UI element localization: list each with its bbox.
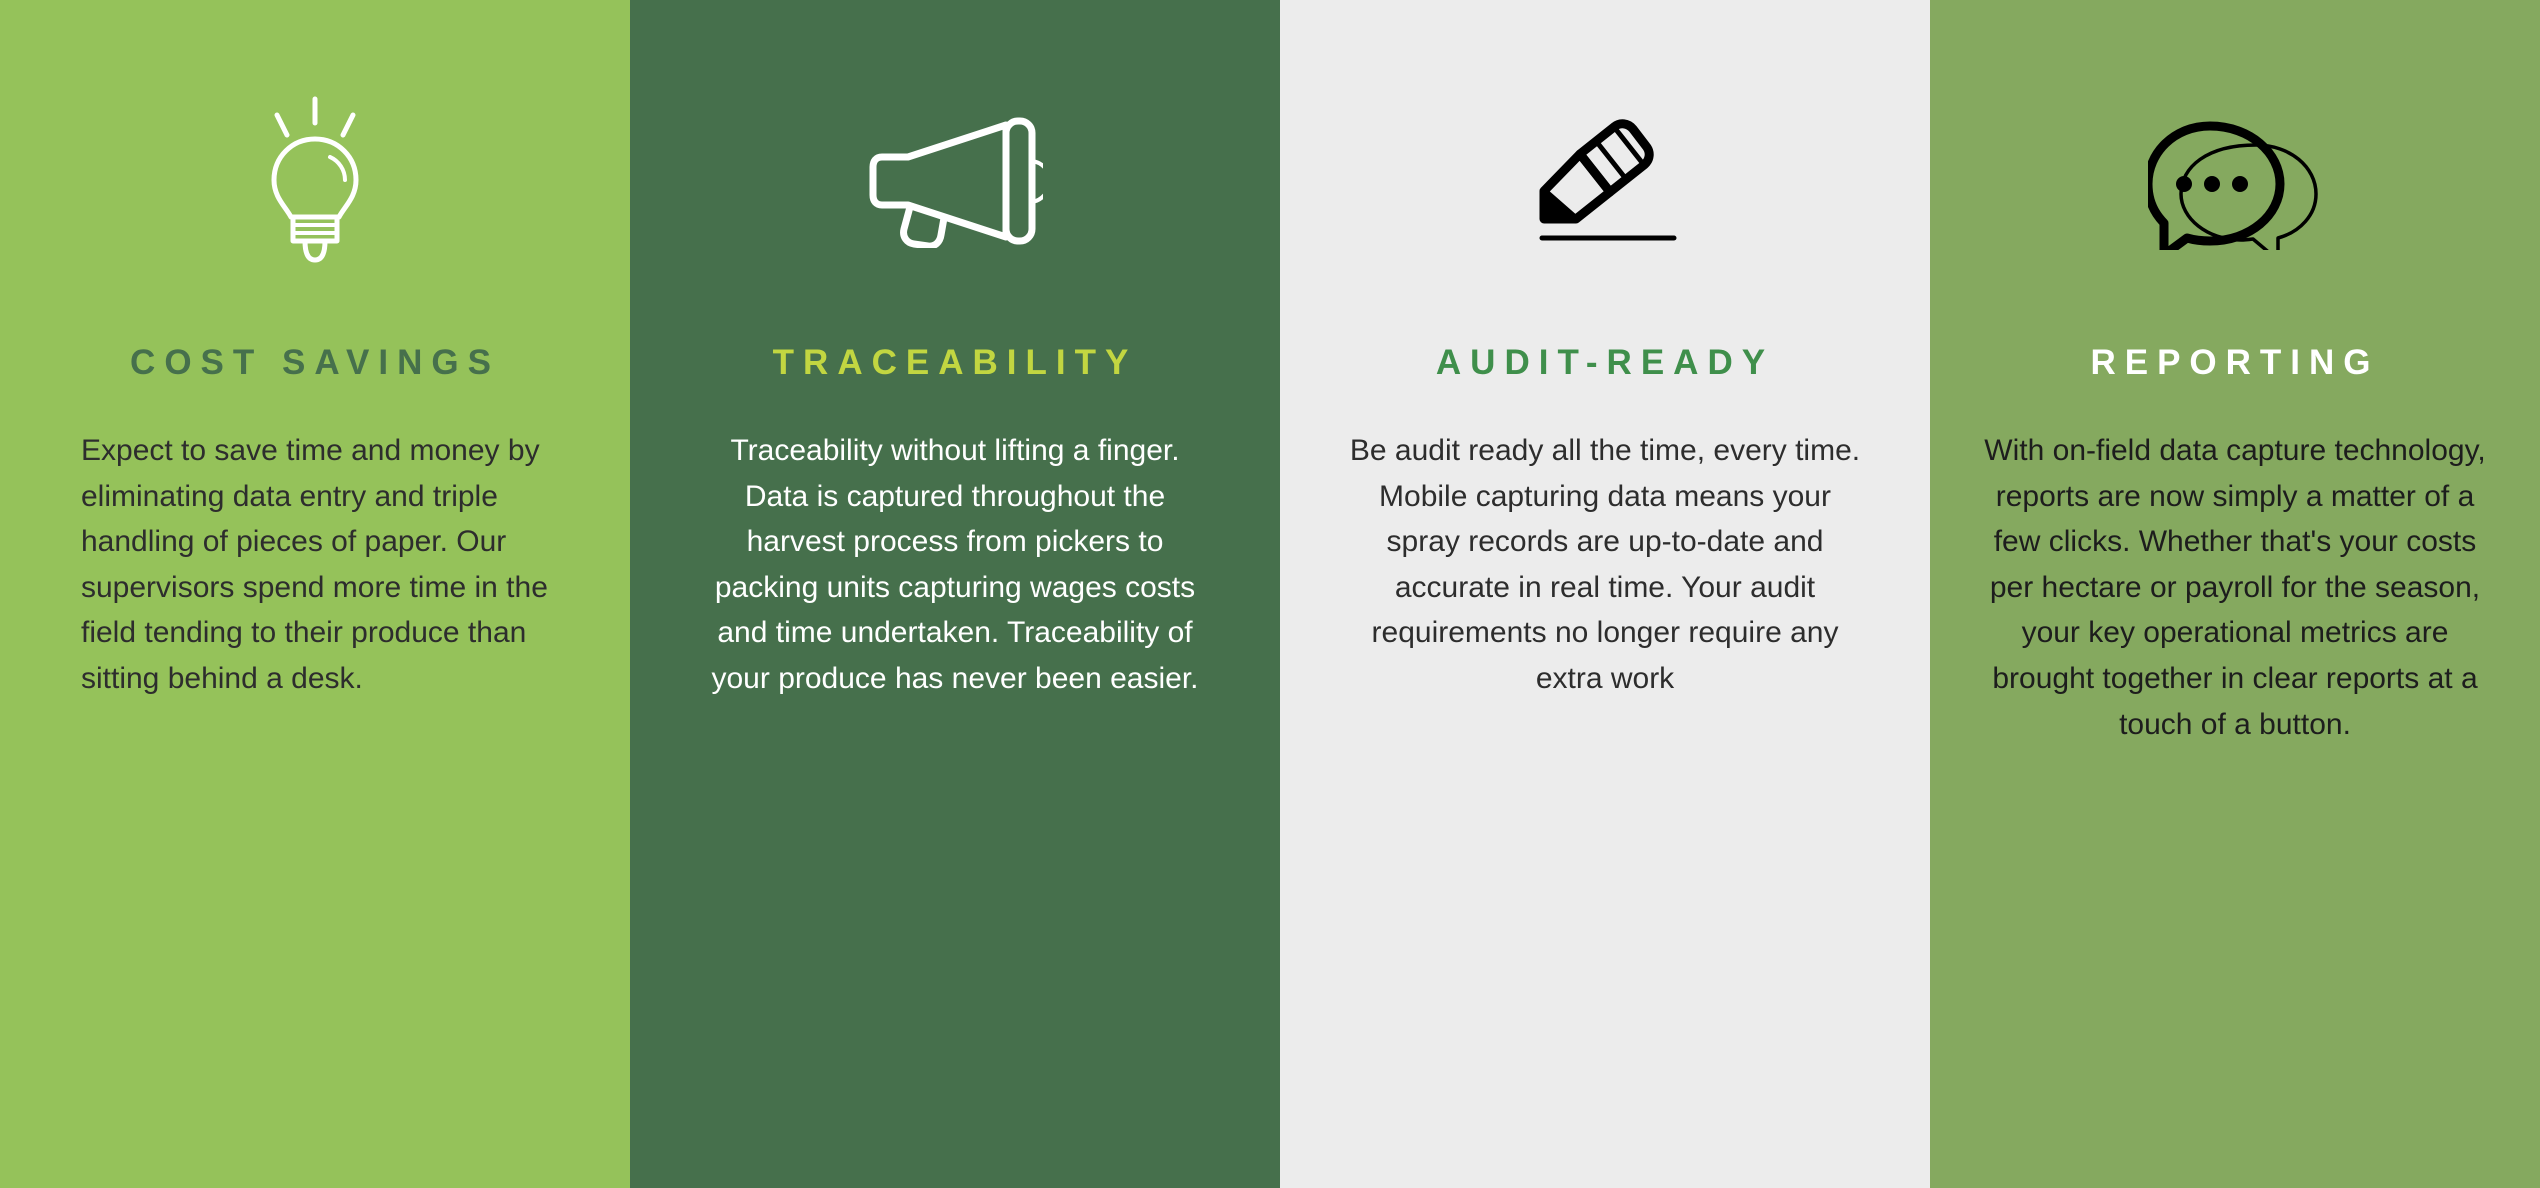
speech-bubbles-icon xyxy=(2148,100,2323,260)
feature-title: REPORTING xyxy=(2090,345,2379,380)
feature-column-traceability: TRACEABILITY Traceability without liftin… xyxy=(630,0,1280,1188)
feature-title: TRACEABILITY xyxy=(773,345,1138,380)
pencil-icon xyxy=(1518,100,1693,260)
megaphone-icon xyxy=(868,100,1043,260)
feature-body-text: Traceability without lifting a finger. D… xyxy=(705,428,1205,702)
feature-columns-strip: COST SAVINGS Expect to save time and mon… xyxy=(0,0,2540,1188)
feature-column-reporting: REPORTING With on-field data capture tec… xyxy=(1930,0,2540,1188)
feature-column-audit-ready: AUDIT-READY Be audit ready all the time,… xyxy=(1280,0,1930,1188)
feature-body-text: Be audit ready all the time, every time.… xyxy=(1345,428,1865,702)
feature-title: COST SAVINGS xyxy=(130,345,500,380)
feature-body-text: With on-field data capture technology, r… xyxy=(1975,428,2495,747)
feature-title: AUDIT-READY xyxy=(1436,345,1774,380)
feature-column-cost-savings: COST SAVINGS Expect to save time and mon… xyxy=(0,0,630,1188)
lightbulb-icon xyxy=(250,100,380,260)
feature-body-text: Expect to save time and money by elimina… xyxy=(69,428,561,702)
